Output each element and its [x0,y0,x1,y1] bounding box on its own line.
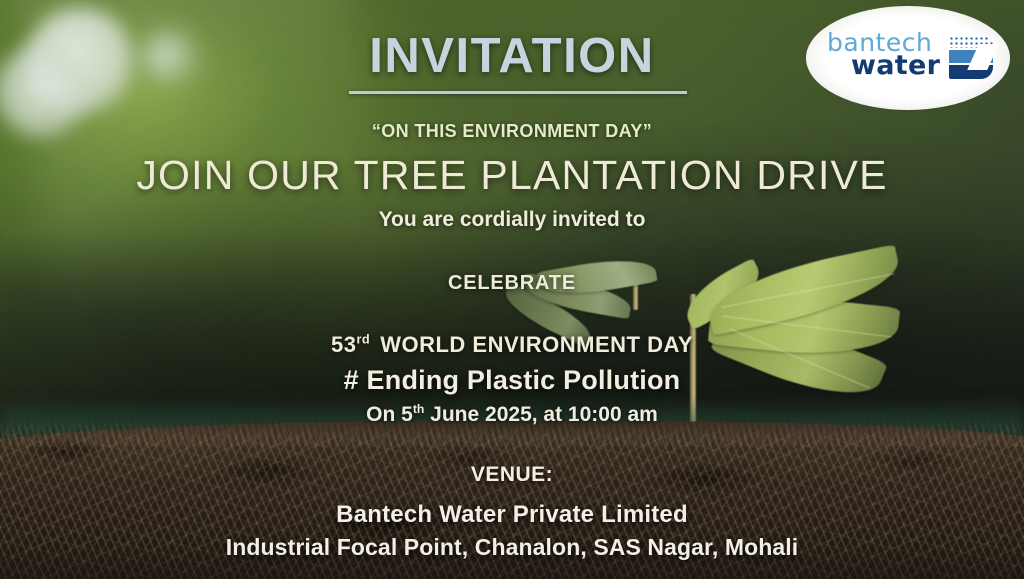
event-datetime: On 5th June 2025, at 10:00 am [0,403,1024,427]
invitation-poster: bantech water INVITATION “ON THIS ENVIRO… [0,0,1024,579]
theme-hashtag: # Ending Plastic Pollution [0,365,1024,396]
occasion-line: 53rdWORLD ENVIRONMENT DAY [0,332,1024,358]
datetime-day-suffix: th [413,402,425,416]
datetime-prefix: On 5 [366,403,413,426]
headline: JOIN OUR TREE PLANTATION DRIVE [0,152,1024,199]
tagline: “ON THIS ENVIRONMENT DAY” [0,121,1024,142]
venue-label: VENUE: [0,463,1024,487]
occasion-ordinal-suffix: rd [356,332,370,347]
venue-organization: Bantech Water Private Limited [0,501,1024,529]
datetime-rest: June 2025, at 10:00 am [424,403,657,426]
occasion-event-name: WORLD ENVIRONMENT DAY [380,332,693,357]
occasion-ordinal-number: 53 [331,332,356,357]
title-underline [349,91,687,94]
page-title: INVITATION [0,28,1024,84]
venue-address: Industrial Focal Point, Chanalon, SAS Na… [0,534,1024,561]
celebrate-label: CELEBRATE [0,272,1024,295]
invitation-line: You are cordially invited to [0,208,1024,232]
poster-content: INVITATION “ON THIS ENVIRONMENT DAY” JOI… [0,0,1024,579]
